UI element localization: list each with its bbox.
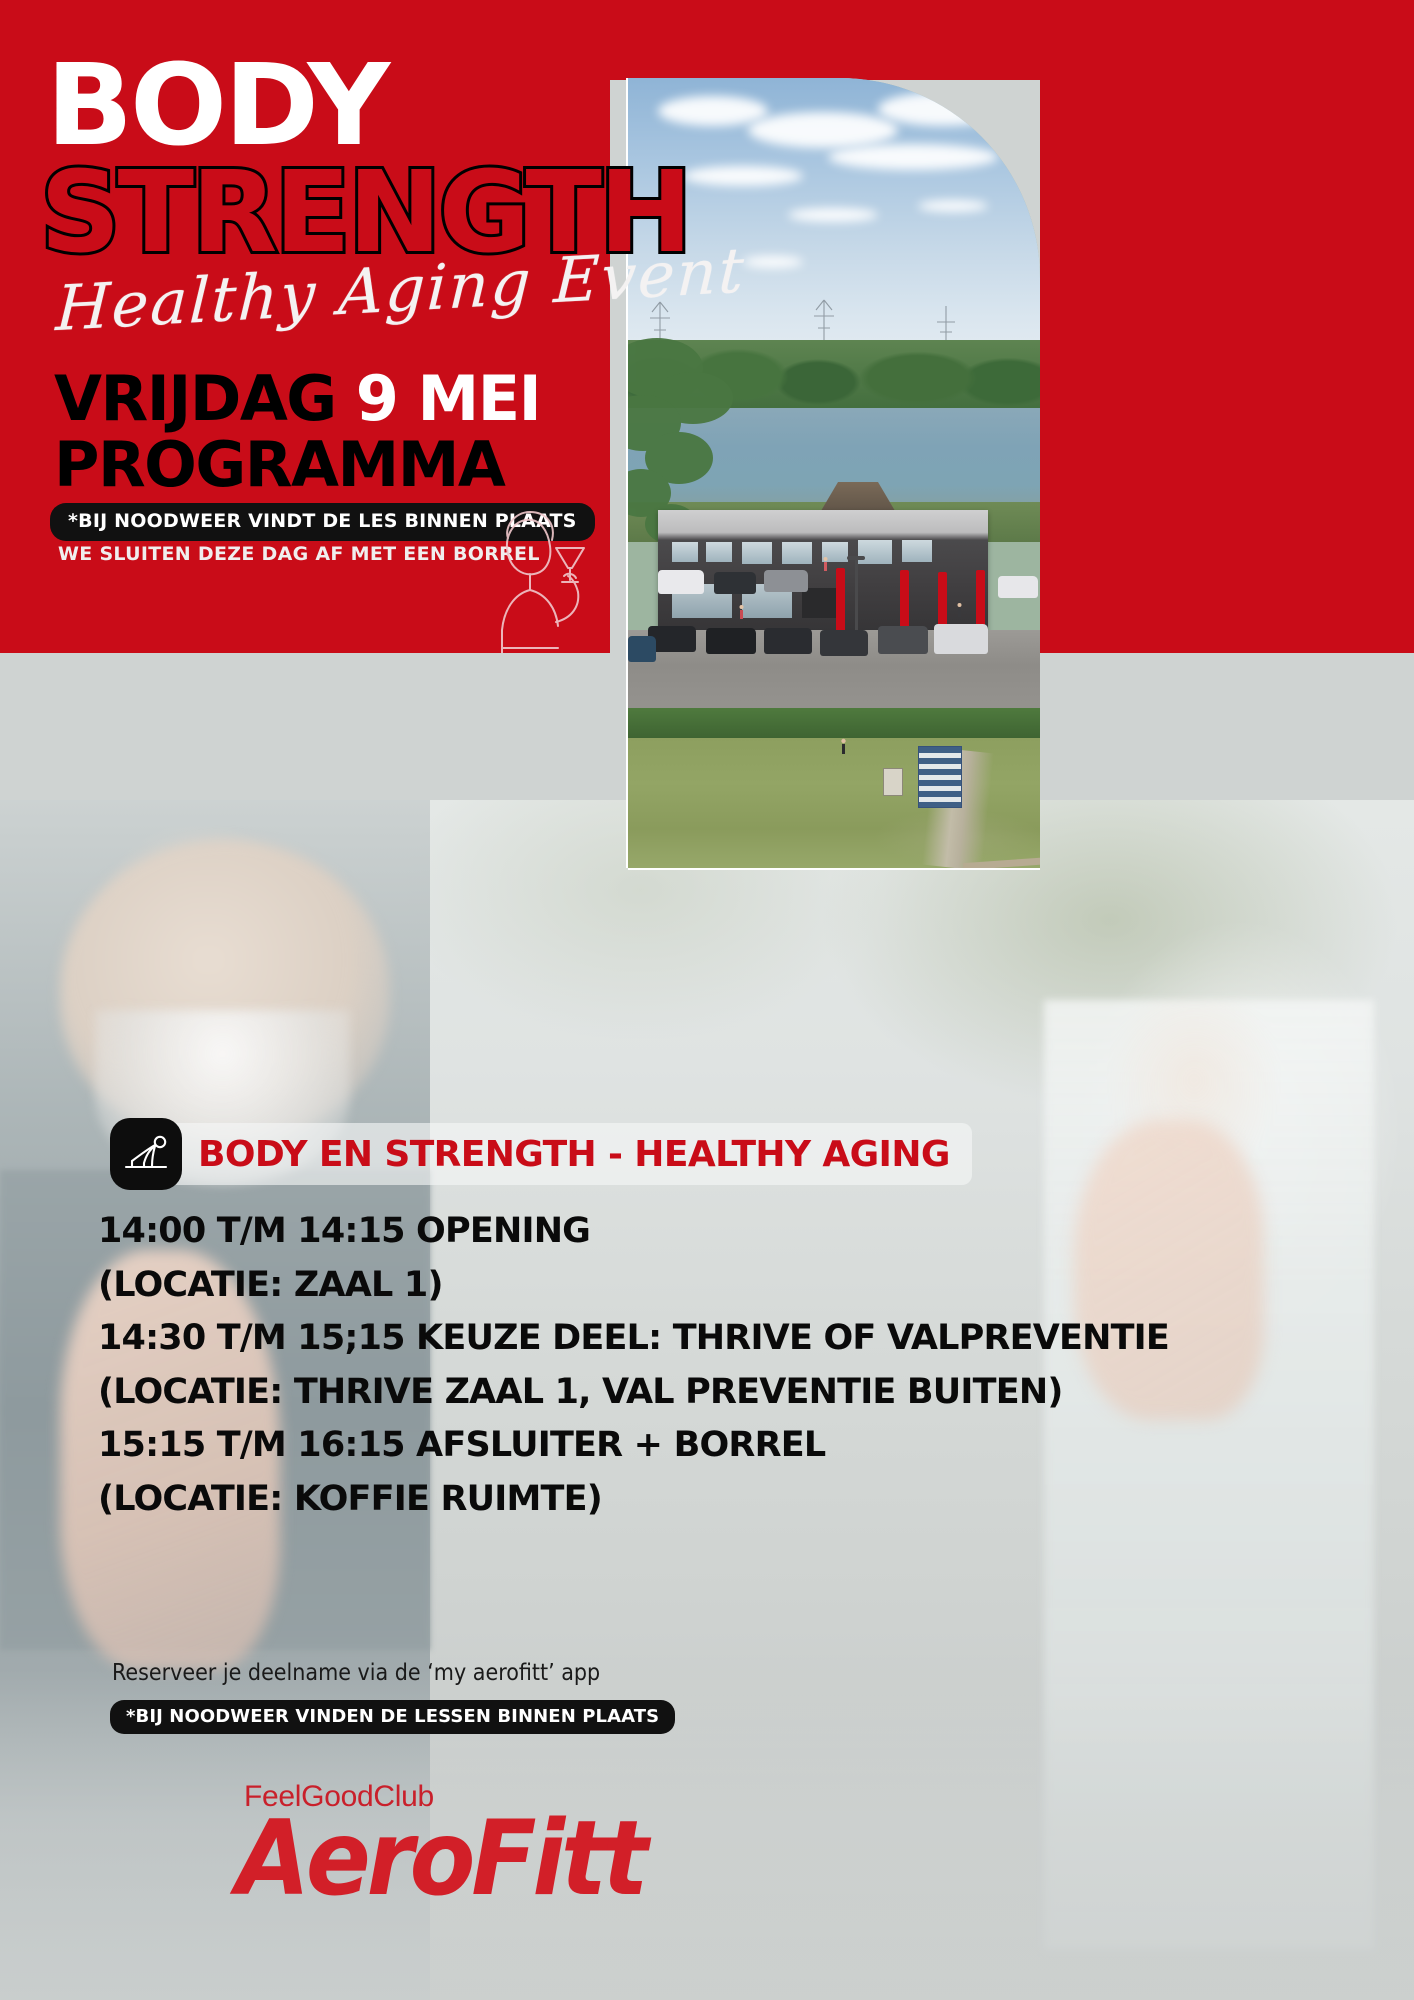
program-heading-text: BODY EN STRENGTH - HEALTHY AGING: [198, 1134, 950, 1175]
plank-exercise-glyph: [122, 1133, 170, 1175]
poster-date-line: VRIJDAG 9 MEI: [54, 362, 540, 435]
footer-weather-pill: *BIJ NOODWEER VINDEN DE LESSEN BINNEN PL…: [110, 1700, 675, 1734]
program-line: 14:30 T/M 15;15 KEUZE DEEL: THRIVE OF VA…: [98, 1312, 1098, 1366]
photo-cloud: [788, 208, 878, 222]
background-woman-arms: [1074, 1120, 1264, 1420]
program-line: 15:15 T/M 16:15 AFSLUITER + BORREL: [98, 1419, 1098, 1473]
photo-cloud: [918, 200, 988, 212]
reservation-note: Reserveer je deelname via de ‘my aerofit…: [112, 1660, 600, 1686]
poster-programma-label: PROGRAMMA: [54, 428, 504, 501]
date-prefix: VRIJDAG: [54, 362, 356, 435]
poster-title-line1: BODY: [46, 55, 387, 158]
program-line: (LOCATIE: KOFFIE RUIMTE): [98, 1473, 1098, 1527]
photo-people: [628, 548, 1040, 868]
header-red-strip-right: [1040, 0, 1414, 653]
plank-exercise-icon: [110, 1118, 182, 1190]
program-line: (LOCATIE: ZAAL 1): [98, 1259, 1098, 1313]
date-highlight: 9 MEI: [356, 362, 540, 435]
aerofitt-logo: FeelGoodClub AeroFitt: [236, 1780, 629, 1897]
program-schedule-list: 14:00 T/M 14:15 OPENING (LOCATIE: ZAAL 1…: [98, 1205, 1098, 1526]
program-line: 14:00 T/M 14:15 OPENING: [98, 1205, 1098, 1259]
program-heading-bar: BODY EN STRENGTH - HEALTHY AGING: [170, 1123, 972, 1185]
woman-with-glass-line-art: [468, 498, 608, 653]
program-line: (LOCATIE: THRIVE ZAAL 1, VAL PREVENTIE B…: [98, 1366, 1098, 1420]
photo-cloud: [743, 256, 803, 268]
club-aerial-photo: [628, 78, 1040, 868]
photo-cloud: [828, 144, 998, 170]
logo-wordmark: AeroFitt: [236, 1810, 644, 1908]
photo-cloud: [683, 166, 803, 186]
photo-cloud: [658, 96, 768, 126]
photo-cloud: [748, 112, 898, 148]
program-heading-row: BODY EN STRENGTH - HEALTHY AGING: [110, 1118, 972, 1190]
event-poster: BODY STRENGTH Healthy Aging Event VRIJDA…: [0, 0, 1414, 2000]
photo-cloud: [878, 92, 1008, 126]
